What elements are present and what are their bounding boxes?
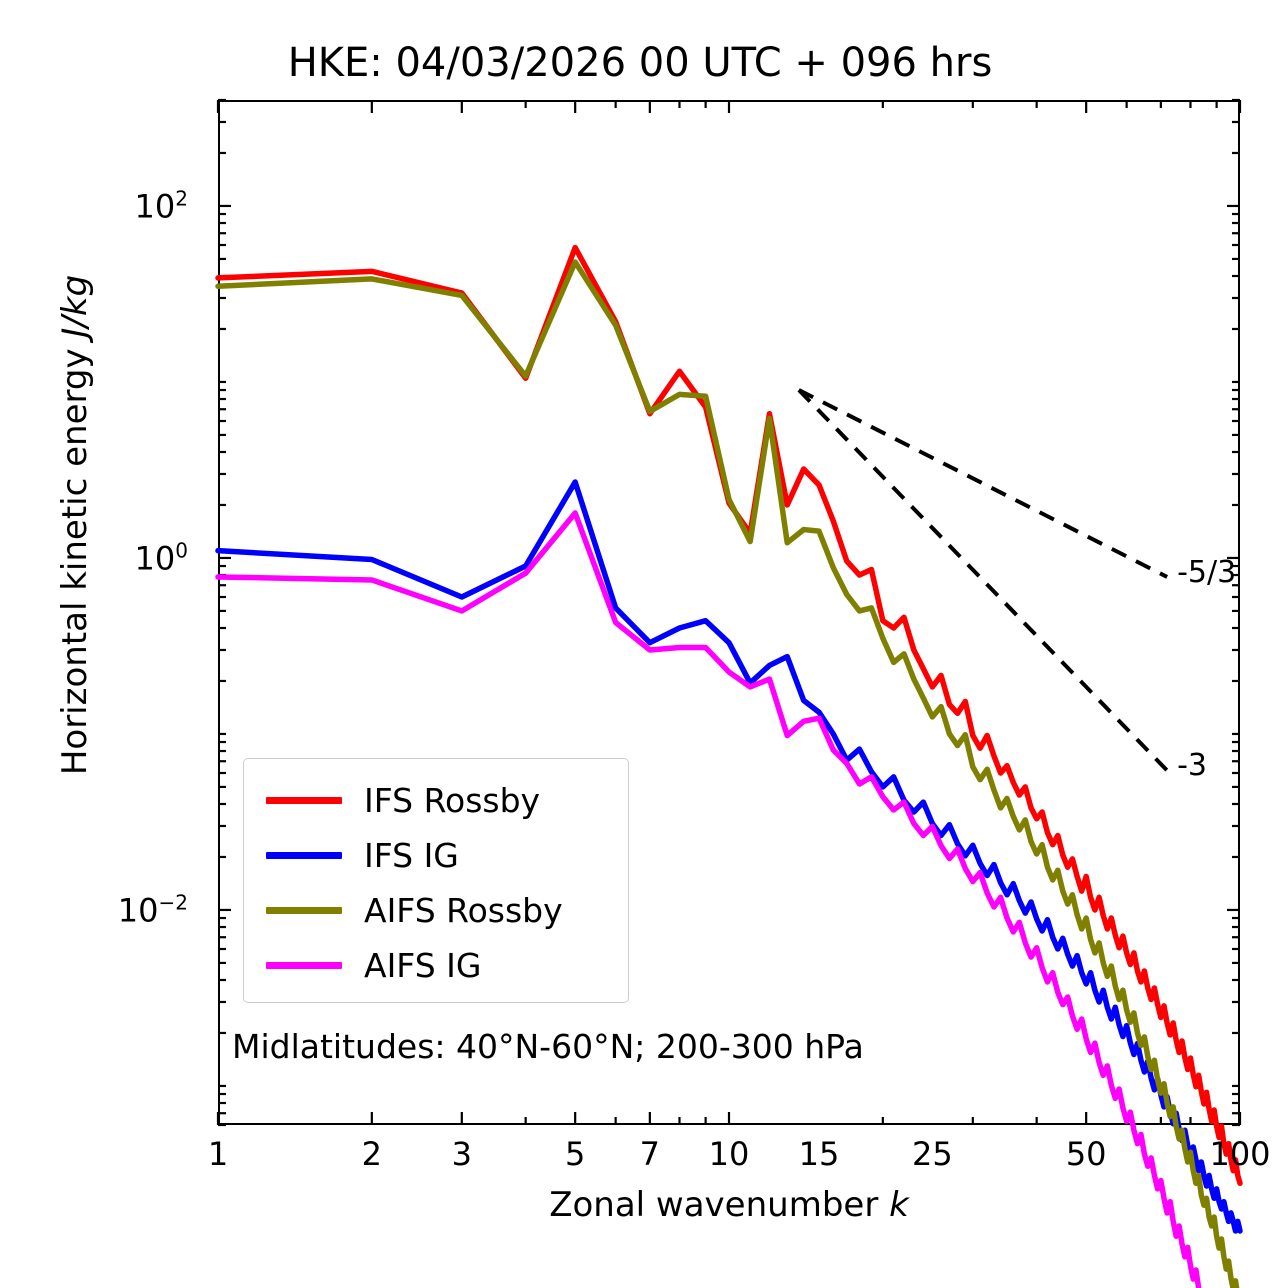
x-axis-label-symbol: k (889, 1185, 909, 1225)
legend-item[interactable]: AIFS Rossby (244, 883, 628, 938)
legend-swatch-aifs-ig (266, 962, 342, 969)
slope-label-five-thirds: -5/3 (1177, 555, 1236, 590)
x-tick-label: 2 (362, 1135, 382, 1173)
x-tick-label: 7 (640, 1135, 660, 1173)
y-axis-label-unit: J/kg (55, 275, 95, 338)
y-tick-label: 10−2 (118, 891, 188, 930)
legend-item[interactable]: AIFS IG (244, 938, 628, 993)
y-axis-label-text: Horizontal kinetic energy (55, 338, 95, 776)
region-annotation: Midlatitudes: 40°N-60°N; 200-300 hPa (232, 1027, 864, 1066)
x-tick-label: 10 (709, 1135, 750, 1173)
x-tick-label: 3 (452, 1135, 472, 1173)
slope-label-minus-three: -3 (1177, 748, 1207, 783)
legend-swatch-ifs-ig (266, 852, 342, 859)
legend-label-ifs-ig: IFS IG (364, 836, 459, 875)
x-axis-label: Zonal wavenumber k (218, 1185, 1240, 1225)
chart-svg (0, 0, 1280, 1288)
y-tick-label: 102 (135, 187, 188, 226)
x-axis-label-text: Zonal wavenumber (549, 1185, 889, 1225)
reference-line-3 (799, 390, 1167, 770)
x-tick-label: 15 (799, 1135, 840, 1173)
chart-page: HKE: 04/03/2026 00 UTC + 096 hrs Horizon… (0, 0, 1280, 1288)
legend[interactable]: IFS Rossby IFS IG AIFS Rossby AIFS IG (243, 758, 629, 1003)
y-axis-label: Horizontal kinetic energy J/kg (55, 145, 95, 905)
x-tick-label: 25 (912, 1135, 953, 1173)
legend-label-aifs-rossby: AIFS Rossby (364, 891, 563, 930)
legend-swatch-aifs-rossby (266, 907, 342, 914)
x-tick-label: 1 (208, 1135, 228, 1173)
legend-label-ifs-rossby: IFS Rossby (364, 781, 540, 820)
legend-item[interactable]: IFS IG (244, 828, 628, 883)
reference-slope-lines (799, 390, 1167, 770)
x-tick-label: 50 (1066, 1135, 1107, 1173)
legend-item[interactable]: IFS Rossby (244, 773, 628, 828)
legend-swatch-ifs-rossby (266, 797, 342, 804)
x-tick-label: 5 (565, 1135, 585, 1173)
legend-label-aifs-ig: AIFS IG (364, 946, 481, 985)
y-tick-label: 100 (135, 539, 188, 578)
reference-line-53 (799, 390, 1167, 577)
x-tick-label: 100 (1209, 1135, 1270, 1173)
